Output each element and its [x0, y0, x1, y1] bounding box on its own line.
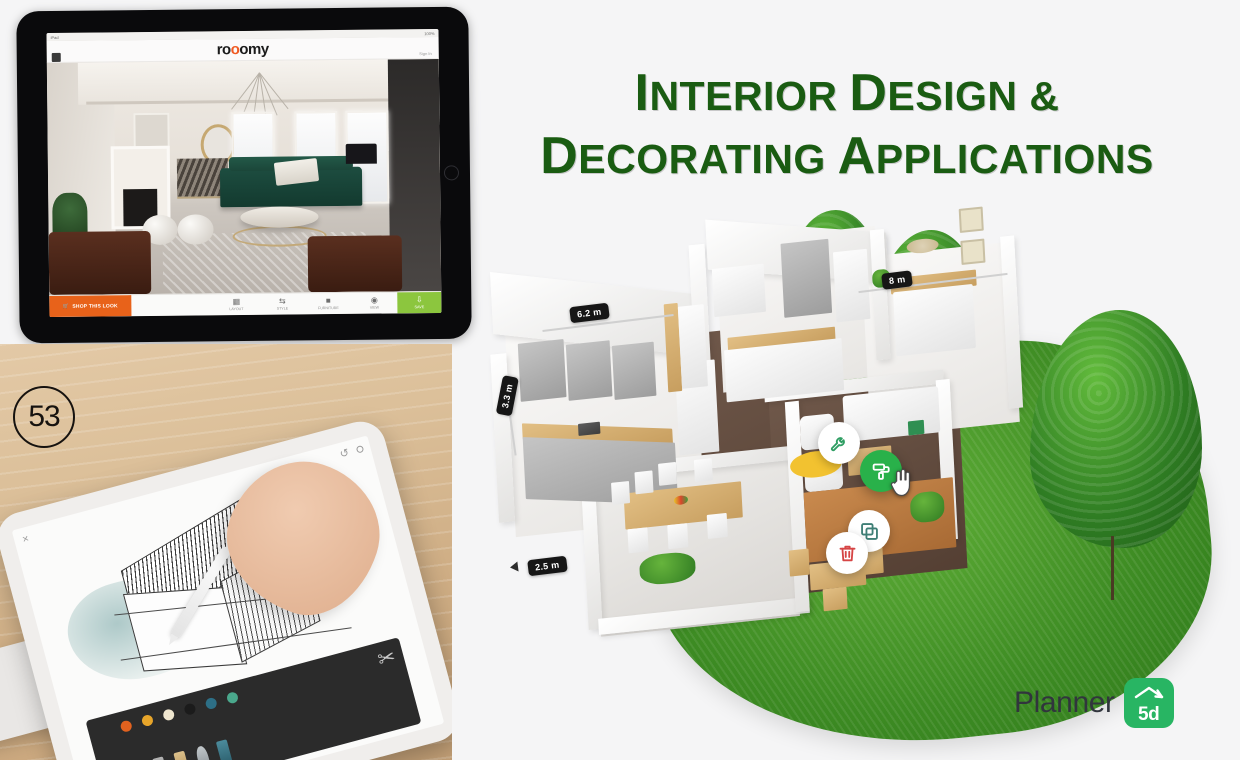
tool-style-label: STYLE — [277, 307, 288, 311]
dining-chair-4[interactable] — [694, 458, 713, 482]
logo-part-1: ro — [217, 41, 231, 58]
headline-line-1: INTERIOR DESIGN & — [487, 62, 1207, 125]
tool-furniture[interactable]: ■ FURNITURE — [305, 293, 351, 314]
grid-icon: ▦ — [233, 298, 241, 306]
shop-button-label: SHOP THIS LOOK — [72, 303, 118, 309]
scissors-icon[interactable]: ✂ — [375, 646, 397, 671]
coffee-table[interactable] — [240, 206, 319, 228]
desk-scene-paper-app: 53 × ↺ — [0, 344, 452, 760]
trash-icon — [837, 543, 858, 564]
sign-in-link[interactable]: Sign In — [419, 51, 432, 56]
planner5d-wordmark: Planner — [1014, 686, 1115, 720]
table-lamp — [346, 143, 378, 164]
tool-view[interactable]: ◉ VIEW — [351, 292, 397, 313]
dining-chair-1[interactable] — [611, 481, 630, 505]
headline-text-applications: PPLICATIONS — [876, 136, 1154, 182]
logo-accent-o: o — [231, 41, 240, 58]
save-button-label: SAVE — [414, 305, 424, 309]
living-room-render[interactable] — [47, 59, 441, 295]
fiftythree-logo-text: 53 — [28, 400, 59, 434]
headline-text-design: ESIGN & — [887, 73, 1059, 119]
delete-tool-button[interactable] — [826, 532, 868, 574]
kitchen-upper-cabinet-2[interactable] — [566, 340, 613, 401]
tree-right — [1030, 310, 1202, 600]
dining-chair-5[interactable] — [627, 527, 648, 553]
paper-canvas-screen[interactable]: × ↺ — [12, 435, 445, 760]
patio-chair-3[interactable] — [823, 587, 848, 612]
close-icon[interactable]: × — [21, 533, 30, 546]
kitchen-door[interactable] — [678, 304, 708, 389]
sofa-icon: ■ — [326, 297, 331, 305]
tool-furniture-label: FURNITURE — [318, 306, 339, 310]
house-model[interactable] — [460, 181, 1039, 670]
poster-canvas: INTERIOR DESIGN & DECORATING APPLICATION… — [0, 0, 1240, 760]
armchair-front-left[interactable] — [49, 231, 152, 295]
framed-art-2 — [960, 238, 985, 265]
planner5d-logo[interactable]: Planner 5d — [1014, 678, 1174, 728]
wardrobe-clothes[interactable] — [712, 264, 766, 317]
camera-icon: ◉ — [371, 297, 378, 305]
menu-icon[interactable] — [52, 53, 61, 62]
house-roof-icon — [1134, 686, 1164, 699]
throw-pillow — [274, 158, 319, 186]
rooomy-bottom-toolbar: 🛒 SHOP THIS LOOK ▦ LAYOUT ⇆ STYLE ■ FURN… — [49, 291, 441, 317]
hand-pointer-cursor — [888, 468, 914, 498]
tablet-device-rooomy: iPad 100% rooomy Sign In — [16, 7, 471, 344]
tool-view-label: VIEW — [370, 306, 379, 310]
save-icon: ⇩ — [416, 296, 423, 304]
swap-icon: ⇆ — [279, 298, 286, 306]
tool-layout-label: LAYOUT — [229, 307, 243, 311]
rooomy-screen[interactable]: iPad 100% rooomy Sign In — [47, 29, 442, 317]
record-dot-icon[interactable] — [356, 445, 365, 454]
shop-this-look-button[interactable]: 🛒 SHOP THIS LOOK — [49, 295, 131, 317]
page-title: INTERIOR DESIGN & DECORATING APPLICATION… — [487, 62, 1207, 189]
headline-dropcap-d: D — [849, 64, 887, 122]
toolbar-spacer — [131, 294, 213, 316]
rooomy-logo: rooomy — [217, 41, 269, 59]
green-cushion — [908, 420, 925, 436]
status-battery: 100% — [424, 30, 434, 35]
bathroom-towel-rail[interactable] — [833, 249, 870, 323]
settings-tool-button[interactable] — [818, 422, 860, 464]
save-button[interactable]: ⇩ SAVE — [397, 292, 441, 313]
armchair-front-right[interactable] — [307, 236, 402, 293]
planner5d-badge: 5d — [1124, 678, 1174, 728]
cart-icon: 🛒 — [63, 303, 69, 309]
headline-dropcap-i: I — [634, 64, 649, 122]
logo-part-2: omy — [239, 41, 269, 58]
ipad-home-button[interactable] — [444, 165, 459, 180]
kitchen-sink[interactable] — [578, 422, 601, 436]
cursor-hand-icon — [888, 468, 914, 498]
headline-text-interior: NTERIOR — [649, 73, 849, 119]
tablet-device-paper: × ↺ — [0, 416, 452, 760]
headline-text-decorating: ECORATING — [578, 136, 837, 182]
dining-chair-7[interactable] — [707, 513, 728, 539]
headline-dropcap-a: A — [838, 127, 876, 185]
planner5d-badge-text: 5d — [1138, 705, 1159, 724]
tool-layout[interactable]: ▦ LAYOUT — [213, 294, 259, 315]
dining-chair-2[interactable] — [634, 470, 653, 494]
status-carrier: iPad — [51, 34, 59, 39]
pouf-ottoman-2 — [178, 214, 214, 245]
wrench-icon — [829, 433, 850, 454]
undo-icon[interactable]: ↺ — [338, 446, 350, 461]
shower-enclosure[interactable] — [781, 239, 833, 318]
bed[interactable] — [893, 284, 976, 356]
headline-line-2: DECORATING APPLICATIONS — [487, 125, 1207, 188]
kitchen-upper-cabinet-3[interactable] — [612, 342, 657, 400]
framed-art-1 — [959, 206, 984, 233]
dining-chair-6[interactable] — [667, 523, 688, 549]
dim-arrow-left — [509, 562, 518, 573]
fiftythree-logo: 53 — [13, 386, 75, 448]
dining-chair-3[interactable] — [658, 462, 677, 486]
tool-style[interactable]: ⇆ STYLE — [259, 293, 305, 314]
kitchen-upper-cabinet-1[interactable] — [518, 339, 567, 402]
patio-chair-1[interactable] — [789, 549, 810, 577]
headline-dropcap-d2: D — [540, 127, 578, 185]
